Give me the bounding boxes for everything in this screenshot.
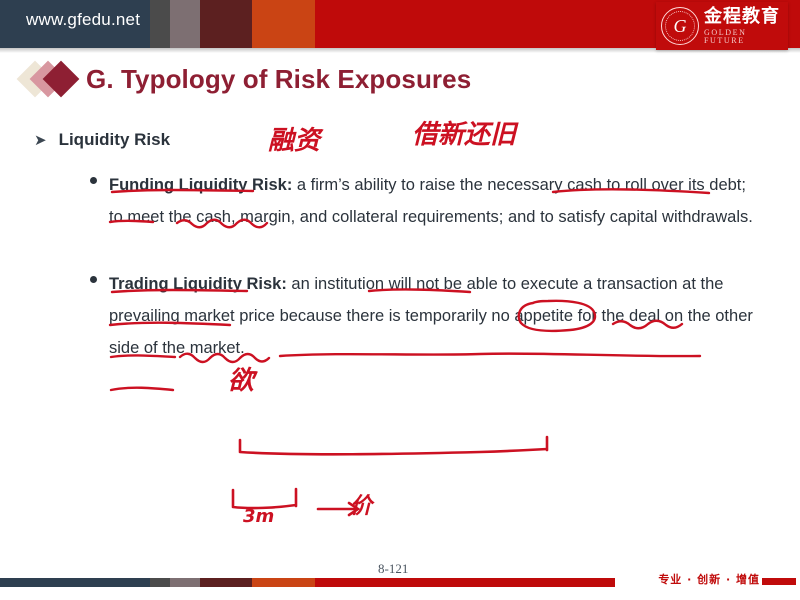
arrow-marker-icon: ➤ [34, 131, 47, 149]
footer-dash [762, 578, 796, 585]
note-three-months: 3m [243, 508, 274, 526]
note-zhuan: 价 [350, 496, 372, 518]
bullet-funding-liquidity-risk: Funding Liquidity Risk: a firm’s ability… [90, 169, 756, 233]
bullet-text: Trading Liquidity Risk: an institution w… [109, 268, 756, 364]
bullet-text: Funding Liquidity Risk: a firm’s ability… [109, 169, 756, 233]
footer-band-dark-maroon [200, 578, 252, 587]
footer-band-dark-gray [150, 578, 170, 587]
slide-canvas: www.gfedu.net G 金程教育 GOLDEN FUTURE G. Ty… [0, 0, 800, 600]
bullet-term: Funding Liquidity Risk: [109, 176, 292, 194]
footer-band-orange [252, 578, 315, 587]
footer-slogan: 专业 · 创新 · 增值 [658, 571, 760, 587]
bullet-trading-liquidity-risk: Trading Liquidity Risk: an institution w… [90, 268, 756, 364]
page-number: 8-121 [378, 561, 408, 577]
slide-body: ➤ Liquidity Risk Funding Liquidity Risk:… [0, 0, 800, 600]
footer-band-warm-gray [170, 578, 200, 587]
note-changyi: 欲 [228, 368, 254, 394]
note-jiexinhuanjiu: 借新还旧 [412, 122, 516, 148]
outline-level1-liquidity-risk: ➤ Liquidity Risk [34, 130, 170, 150]
bullet-term: Trading Liquidity Risk: [109, 275, 287, 293]
outline-level1-label: Liquidity Risk [59, 130, 170, 150]
footer-band-red [315, 578, 615, 587]
footer-band-navy [0, 578, 150, 587]
note-rongzi: 融资 [268, 128, 320, 154]
bullet-dot-icon [90, 276, 97, 283]
bullet-dot-icon [90, 177, 97, 184]
